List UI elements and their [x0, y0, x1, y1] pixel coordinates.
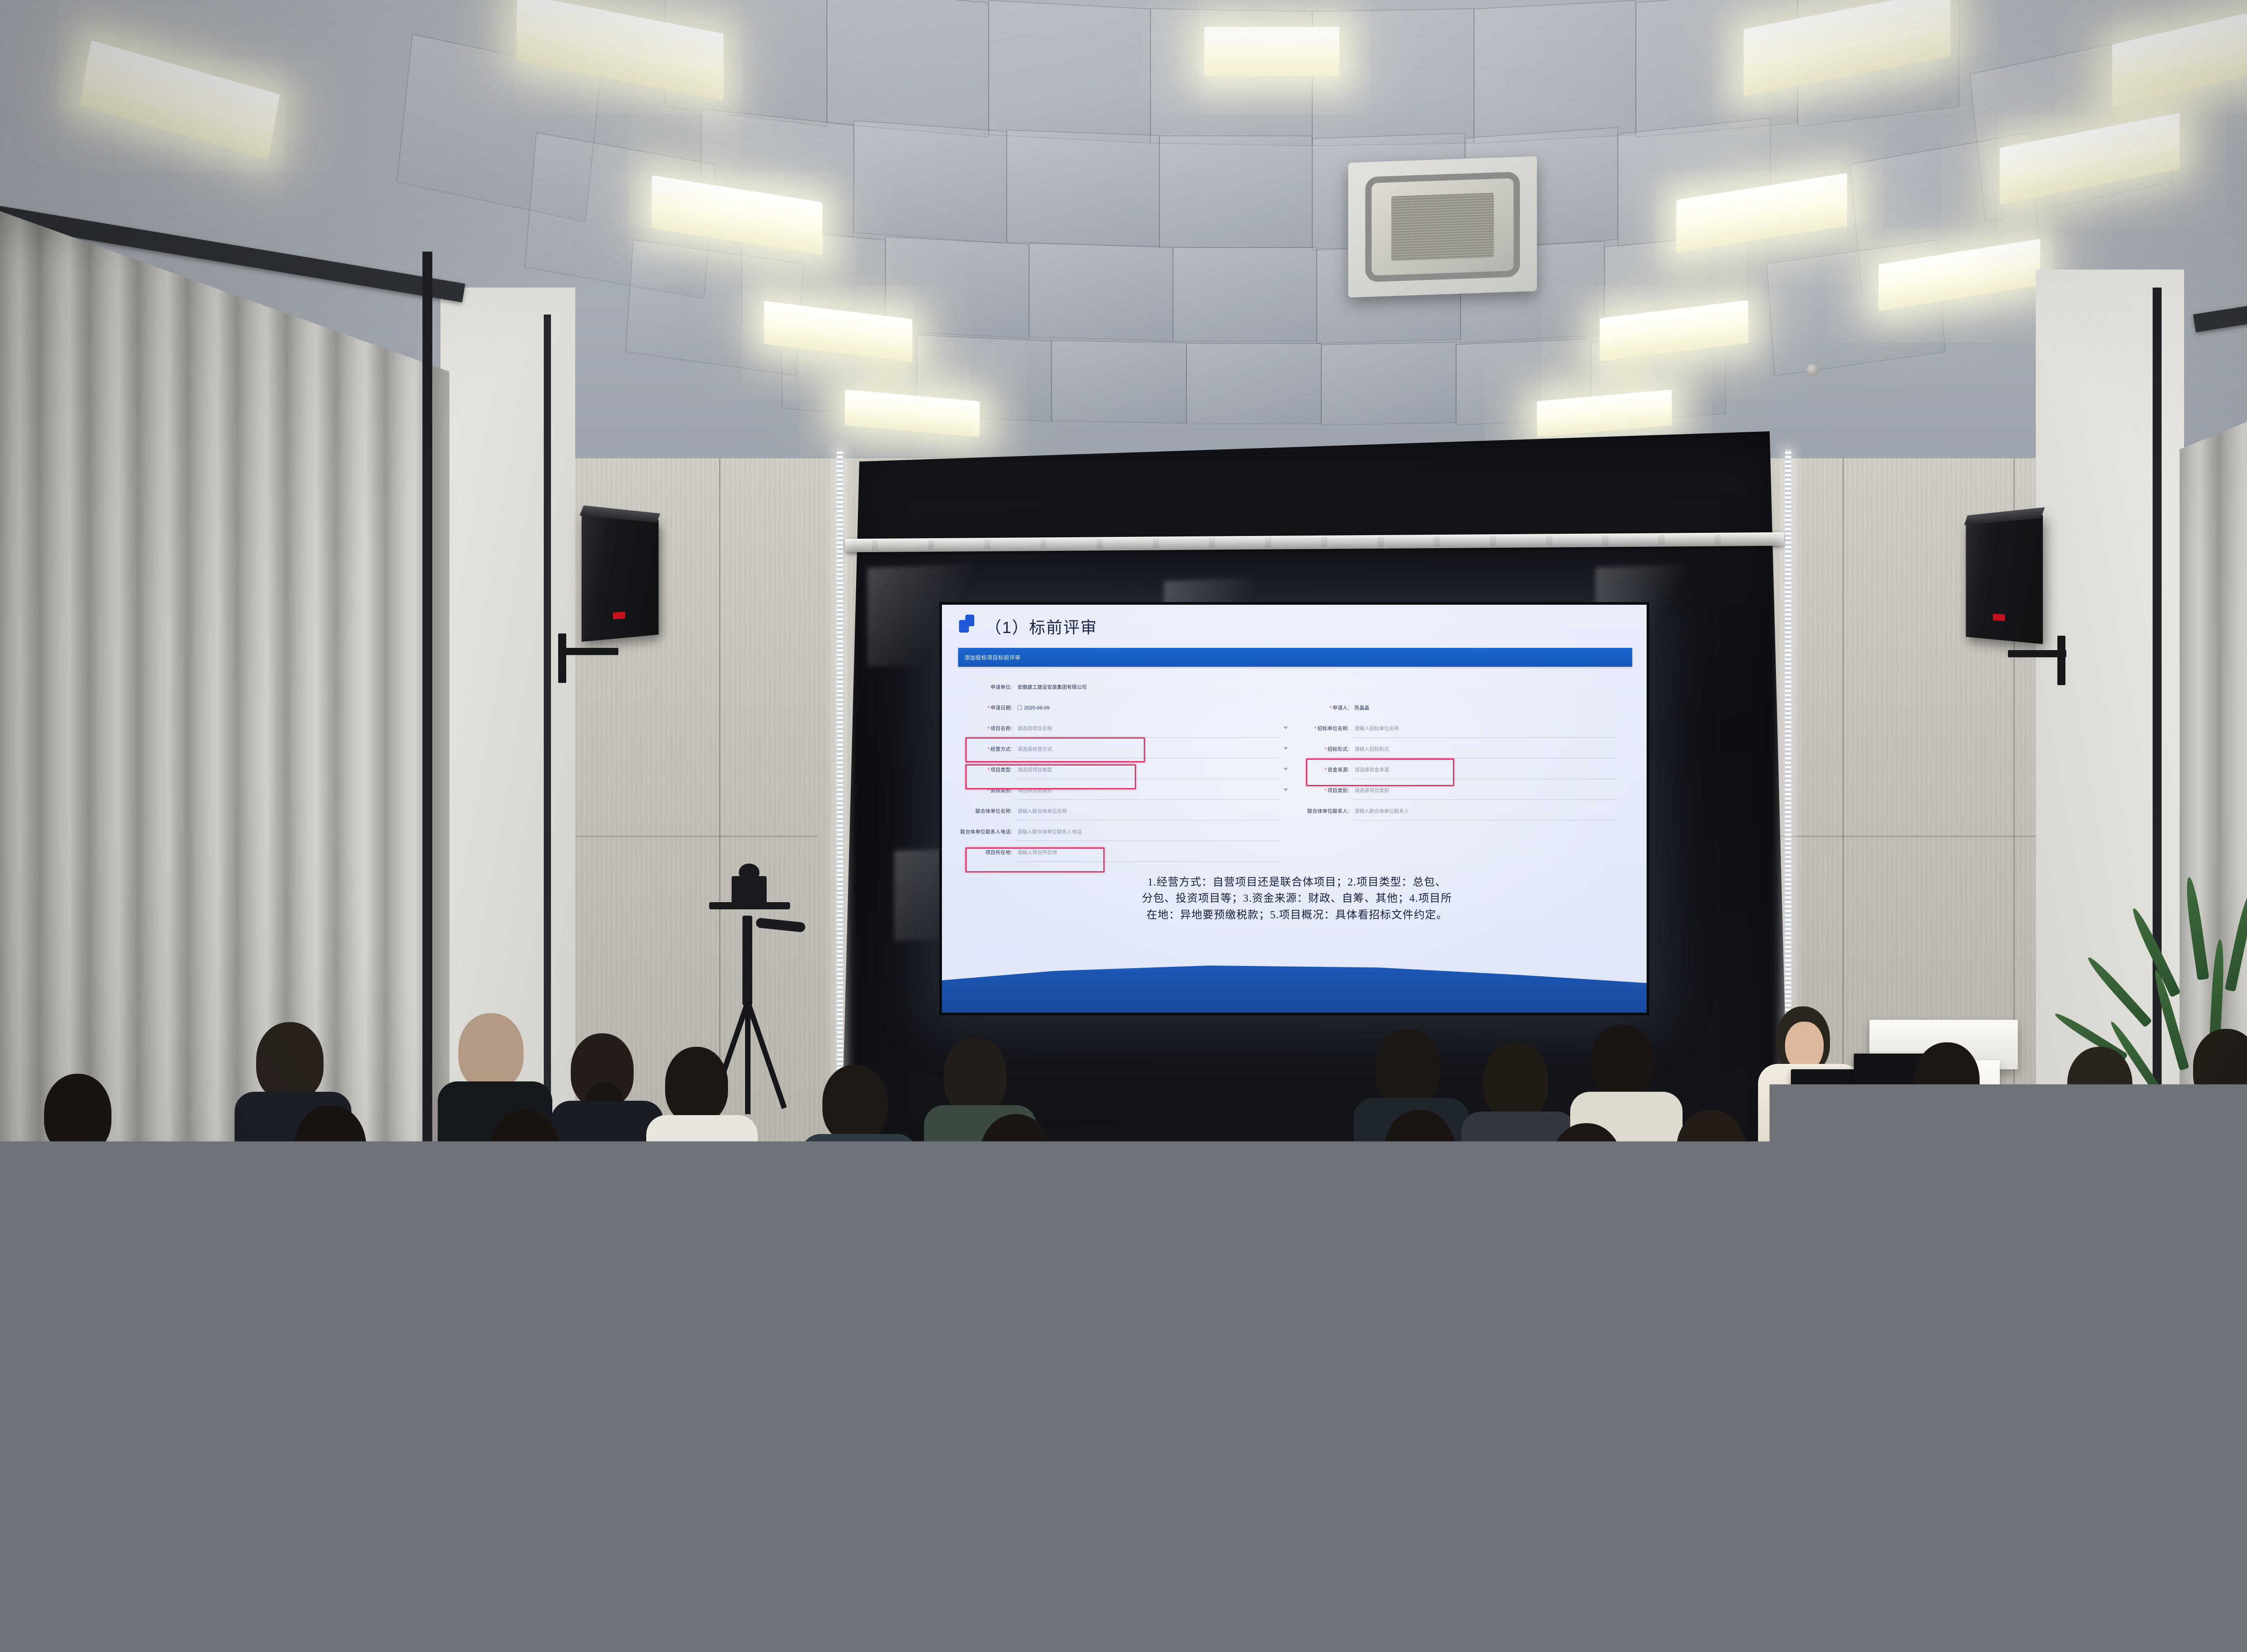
required-marker: * — [1324, 788, 1326, 793]
wall-speaker-left — [580, 517, 665, 638]
field-label: 联合体单位联系人电话: — [958, 828, 1012, 835]
form-field-empty — [1295, 677, 1632, 697]
form-field-empty — [1295, 821, 1632, 842]
curtain-left — [0, 211, 449, 1155]
field-label: 招标形式: — [1328, 747, 1349, 752]
left-wall-pillar — [440, 288, 575, 1141]
field-placeholder: 请输入联合体单位名称 — [1017, 807, 1067, 815]
slide-logo-icon — [959, 615, 974, 633]
field-label: 申请人: — [1332, 705, 1349, 711]
form-field-tender-form[interactable]: *招标形式: 请输入招标形式 — [1295, 739, 1632, 759]
ceiling-light-panel — [80, 40, 280, 159]
field-placeholder: 请选择项目类别 — [1354, 787, 1389, 794]
desk — [924, 1352, 1197, 1372]
slide-title: （1）标前评审 — [985, 615, 1097, 638]
field-label: 资金来源: — [1328, 767, 1349, 773]
field-label: 经营方式: — [990, 747, 1012, 752]
form-field-consortium-unit-name[interactable]: 联合体单位名称: 请输入联合体单位名称 — [958, 801, 1295, 821]
jbl-logo-badge — [613, 611, 625, 619]
calendar-icon — [1017, 705, 1022, 710]
caption-line-3: 在地：异地要预缴税款；5.项目概况：具体看招标文件约定。 — [973, 907, 1621, 923]
field-label: 联合体单位名称: — [958, 807, 1012, 815]
form-field-tender-unit-name[interactable]: *招标单位名称: 请输入招标单位名称 — [1295, 718, 1632, 739]
slide-form: 申请单位: 安徽建工建设安装集团有限公司 *申请日期: 2025-06-09 *… — [958, 677, 1632, 865]
desk-caster — [1103, 1330, 1114, 1341]
form-field-project-name[interactable]: *项目名称: 请选择项目名称 — [958, 718, 1295, 739]
form-field-empty — [1295, 842, 1632, 863]
desk — [487, 1406, 898, 1430]
form-field-project-location[interactable]: 项目所在地: 请输入项目所在地 — [958, 842, 1295, 863]
field-label: 联合体单位联系人: — [1295, 807, 1349, 815]
slide-caption: 1.经营方式：自营项目还是联合体项目；2.项目类型：总包、 分包、投资项目等；3… — [973, 874, 1621, 923]
required-marker: * — [987, 705, 989, 711]
slide-banner-label: 添加投标项目标前评审 — [958, 654, 1021, 661]
form-field-qualification-category[interactable]: *资质类别: 请选择资质类别 — [958, 780, 1295, 801]
form-field-project-category[interactable]: *项目类别: 请选择项目类别 — [1295, 780, 1632, 801]
camera-lens — [739, 864, 759, 881]
desk — [477, 1550, 925, 1576]
projection-screen: （1）标前评审 添加投标项目标前评审 申请单位: 安徽建工建设安装集团有限公司 — [939, 602, 1649, 1015]
required-marker: * — [987, 726, 989, 731]
required-marker: * — [987, 767, 989, 773]
form-field-applicant[interactable]: *申请人: 陈晶晶 — [1295, 697, 1632, 718]
slide-banner: 添加投标项目标前评审 — [958, 648, 1632, 667]
field-value: 2025-06-09 — [1024, 705, 1049, 711]
required-marker: * — [1324, 767, 1326, 773]
form-field-consortium-contact-phone[interactable]: 联合体单位联系人电话: 请输入联合体单位联系人电话 — [958, 821, 1295, 842]
tripod-column — [742, 916, 752, 1005]
chair — [535, 1316, 647, 1395]
field-label: 项目所在地: — [958, 849, 1012, 856]
chevron-down-icon[interactable] — [1283, 747, 1288, 750]
desk-caster — [560, 1422, 570, 1433]
presentation-slide: （1）标前评审 添加投标项目标前评审 申请单位: 安徽建工建设安装集团有限公司 — [942, 605, 1647, 1013]
field-placeholder: 请输入联合体单位联系人电话 — [1017, 828, 1082, 835]
field-placeholder: 请选择资金来源 — [1354, 766, 1389, 773]
training-room-scene: （1）标前评审 添加投标项目标前评审 申请单位: 安徽建工建设安装集团有限公司 — [0, 0, 2247, 1652]
field-placeholder: 请输入项目所在地 — [1017, 849, 1057, 856]
window-mullion — [544, 314, 551, 1141]
desk-caster — [1429, 1382, 1440, 1392]
field-value: 陈晶晶 — [1354, 704, 1369, 711]
sprinkler-head — [1807, 364, 1818, 376]
field-placeholder: 请输入招标单位名称 — [1354, 725, 1399, 732]
ceiling-light-panel — [1204, 27, 1339, 76]
form-field-fund-source[interactable]: *资金来源: 请选择资金来源 — [1295, 759, 1632, 780]
field-placeholder: 请输入招标形式 — [1354, 745, 1389, 753]
form-field-apply-date[interactable]: *申请日期: 2025-06-09 — [958, 697, 1295, 718]
form-field-project-type[interactable]: *项目类型: 请选择项目类型 — [958, 759, 1295, 780]
chevron-down-icon[interactable] — [1283, 726, 1288, 729]
required-marker: * — [987, 747, 989, 752]
field-placeholder: 请选择项目类型 — [1017, 766, 1052, 773]
required-marker: * — [1330, 705, 1332, 711]
caption-line-2: 分包、投资项目等；3.资金来源：财政、自筹、其他；4.项目所 — [973, 890, 1621, 907]
field-label: 申请日期: — [990, 705, 1012, 711]
camera-crossbar — [709, 902, 790, 909]
field-label: 项目名称: — [990, 726, 1012, 731]
caption-line-1: 1.经营方式：自营项目还是联合体项目；2.项目类型：总包、 — [973, 874, 1621, 890]
chevron-down-icon[interactable] — [1283, 788, 1288, 791]
ceiling-light-panel — [2112, 1, 2247, 107]
wall-speaker-right — [1959, 519, 2045, 640]
chevron-down-icon[interactable] — [1283, 768, 1288, 771]
jbl-logo-badge — [1993, 614, 2005, 621]
form-field-applicant-unit[interactable]: 申请单位: 安徽建工建设安装集团有限公司 — [958, 677, 1295, 697]
field-value: 安徽建工建设安装集团有限公司 — [1017, 683, 1087, 691]
shotgun-microphone — [755, 917, 806, 932]
form-field-consortium-contact[interactable]: 联合体单位联系人: 请输入联合体单位联系人 — [1295, 801, 1632, 821]
form-field-operation-mode[interactable]: *经营方式: 请选择经营方式 — [958, 739, 1295, 759]
field-placeholder: 请选择项目名称 — [1017, 725, 1052, 732]
field-label: 资质类别: — [990, 788, 1012, 793]
field-placeholder: 请选择资质类别 — [1017, 787, 1052, 794]
required-marker: * — [1314, 726, 1316, 731]
required-marker: * — [1324, 747, 1326, 752]
field-placeholder: 请输入联合体单位联系人 — [1354, 807, 1409, 815]
field-label: 申请单位: — [958, 683, 1012, 691]
field-placeholder: 请选择经营方式 — [1017, 745, 1052, 753]
field-label: 项目类别: — [1328, 788, 1349, 793]
ceiling-cassette-air-conditioner — [1348, 156, 1537, 298]
field-label: 招标单位名称: — [1318, 726, 1349, 731]
desk-caster — [1119, 1379, 1130, 1390]
required-marker: * — [987, 788, 989, 793]
field-label: 项目类型: — [990, 767, 1012, 773]
desk-caster — [1537, 1528, 1548, 1538]
window-mullion — [422, 252, 432, 1146]
